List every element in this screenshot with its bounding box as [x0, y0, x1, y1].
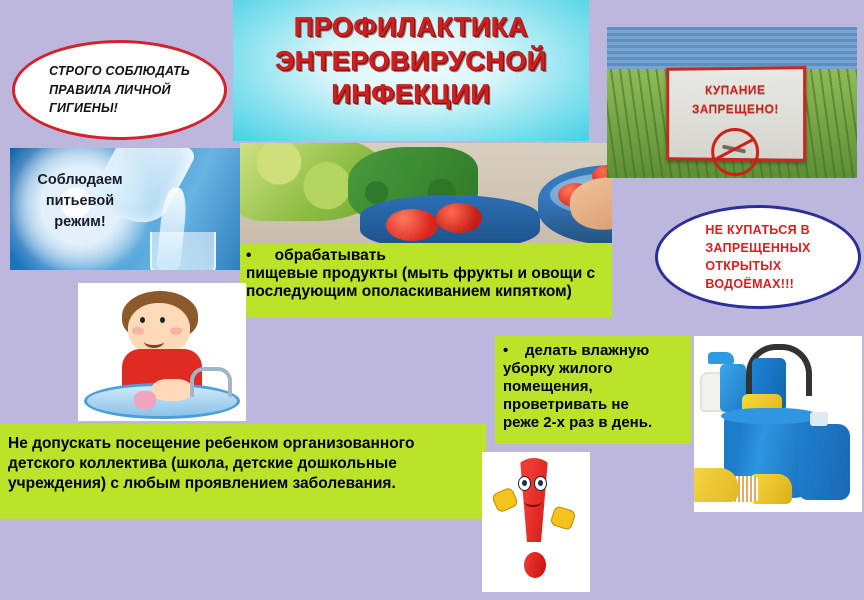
large-detergent-bottle-shape: [798, 424, 850, 500]
mascot-glove-right: [549, 505, 576, 531]
poster-title-banner: ПРОФИЛАКТИКА ЭНТЕРОВИРУСНОЙ ИНФЕКЦИИ: [233, 0, 589, 141]
swimmer-glyph: [722, 144, 746, 153]
title-line-2: ЭНТЕРОВИРУСНОЙ: [233, 48, 589, 76]
cleaning-line-2: уборку жилого: [503, 360, 685, 378]
cleaning-line-5: реже 2-х раз в день.: [503, 414, 685, 432]
cleaning-bullet-row: • делать влажную: [503, 342, 685, 360]
mascot-pupil-right: [538, 480, 543, 486]
callout-swimming-line-4: ВОДОЁМАХ!!!: [705, 275, 810, 293]
photo-water-caption: Соблюдаем питьевой режим!: [20, 170, 140, 233]
title-text-wrap: ПРОФИЛАКТИКА ЭНТЕРОВИРУСНОЙ ИНФЕКЦИИ: [233, 0, 589, 109]
callout-hygiene-line-2: ПРАВИЛА ЛИЧНОЙ: [49, 81, 190, 100]
title-line-3: ИНФЕКЦИИ: [233, 81, 589, 109]
photo-washing-vegetables: [240, 143, 612, 245]
bullet-icon: •: [246, 247, 251, 264]
food-line-2: пищевые продукты (мыть фрукты и овощи с: [246, 265, 606, 283]
faucet-icon: [190, 367, 232, 397]
callout-hygiene-text: СТРОГО СОБЛЮДАТЬ ПРАВИЛА ЛИЧНОЙ ГИГИЕНЫ!: [37, 62, 202, 118]
callout-hygiene-line-1: СТРОГО СОБЛЮДАТЬ: [49, 62, 190, 81]
callout-swimming-line-2: ЗАПРЕЩЕННЫХ: [705, 239, 810, 257]
water-caption-line-1: Соблюдаем: [20, 170, 140, 191]
sign-line-2: ЗАПРЕЩЕНО!: [669, 102, 803, 116]
photo-cleaning-supplies: [694, 336, 862, 512]
water-caption-line-3: режим!: [20, 212, 140, 233]
illustration-exclamation-mascot: [482, 452, 590, 592]
food-line-1: обрабатывать: [275, 247, 386, 264]
water-caption-line-2: питьевой: [20, 191, 140, 212]
no-swimming-icon: [711, 128, 759, 176]
children-line-1: Не допускать посещение ребенком организо…: [8, 434, 478, 454]
child-eye-right: [160, 317, 165, 323]
scrub-brush-shape: [750, 474, 792, 504]
cleaning-line-3: помещения,: [503, 378, 685, 396]
child-cheek-left: [132, 327, 144, 335]
tomato-shape-1: [386, 209, 438, 241]
panel-keep-sick-child-home: Не допускать посещение ребенком организо…: [0, 424, 486, 519]
cleaning-line-1: делать влажную: [525, 342, 649, 359]
child-cheek-right: [170, 327, 182, 335]
children-line-3: учреждения) с любым проявлением заболева…: [8, 474, 478, 494]
panel-food-processing: • обрабатывать пищевые продукты (мыть фр…: [240, 243, 612, 317]
sign-line-1: КУПАНИЕ: [669, 82, 803, 97]
callout-personal-hygiene: СТРОГО СОБЛЮДАТЬ ПРАВИЛА ЛИЧНОЙ ГИГИЕНЫ!: [12, 40, 227, 140]
warning-sign-board: КУПАНИЕ ЗАПРЕЩЕНО!: [666, 66, 806, 162]
food-line-3: последующим ополаскиванием кипятком): [246, 283, 606, 301]
illustration-child-washing-hands: [78, 283, 246, 421]
title-line-1: ПРОФИЛАКТИКА: [233, 14, 589, 42]
photo-drinking-water: Соблюдаем питьевой режим!: [10, 148, 244, 270]
callout-no-swimming: НЕ КУПАТЬСЯ В ЗАПРЕЩЕННЫХ ОТКРЫТЫХ ВОДОЁ…: [655, 205, 861, 309]
soap-bar-shape: [134, 391, 156, 409]
callout-swimming-line-3: ОТКРЫТЫХ: [705, 257, 810, 275]
food-bullet-row: • обрабатывать: [246, 247, 606, 265]
cleaning-line-4: проветривать не: [503, 396, 685, 414]
tomato-shape-2: [436, 203, 482, 233]
mascot-smile-shape: [524, 496, 542, 507]
child-eye-left: [140, 317, 145, 323]
mascot-pupil-left: [522, 480, 527, 486]
callout-swimming-line-1: НЕ КУПАТЬСЯ В: [705, 221, 810, 239]
yellow-gloves-shape: [694, 468, 738, 502]
exclamation-dot-shape: [524, 552, 546, 578]
callout-swimming-text: НЕ КУПАТЬСЯ В ЗАПРЕЩЕННЫХ ОТКРЫТЫХ ВОДОЁ…: [695, 221, 820, 294]
callout-hygiene-line-3: ГИГИЕНЫ!: [49, 99, 190, 118]
bullet-icon: •: [503, 342, 508, 359]
children-line-2: детского коллектива (школа, детские дошк…: [8, 454, 478, 474]
child-mouth-shape: [144, 335, 164, 348]
poster-canvas: ПРОФИЛАКТИКА ЭНТЕРОВИРУСНОЙ ИНФЕКЦИИ СТР…: [0, 0, 864, 600]
water-glass-shape: [150, 232, 216, 270]
child-hands-shape: [152, 379, 192, 401]
panel-wet-cleaning: • делать влажную уборку жилого помещения…: [495, 336, 691, 444]
photo-no-swimming-sign: КУПАНИЕ ЗАПРЕЩЕНО!: [607, 27, 857, 178]
mascot-glove-left: [491, 486, 519, 513]
